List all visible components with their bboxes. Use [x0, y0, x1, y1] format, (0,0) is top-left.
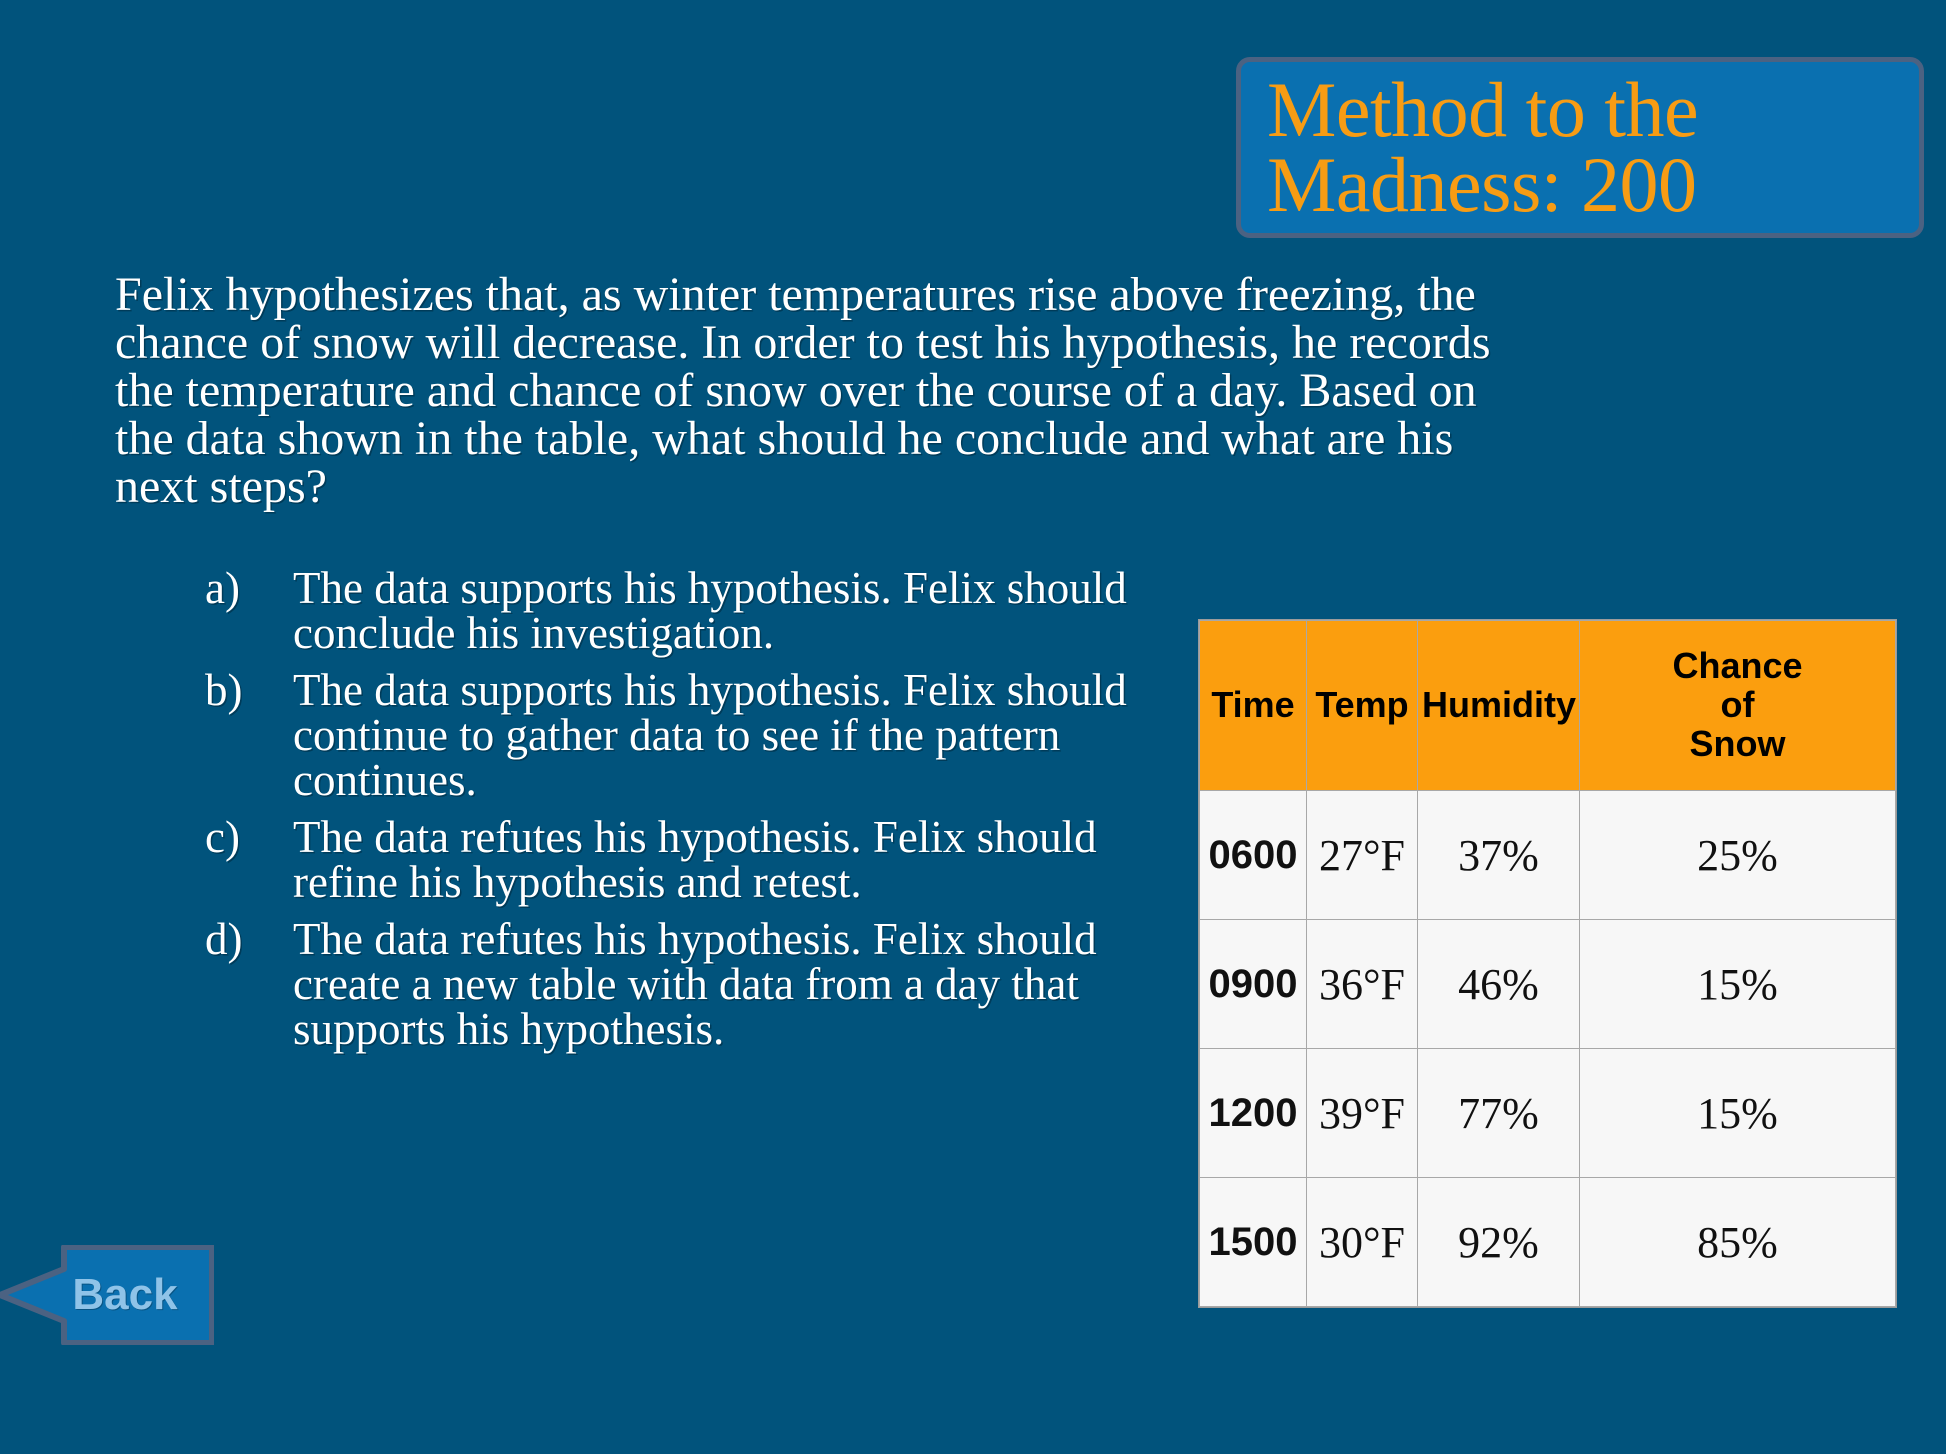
table-header-row: Time Temp Humidity Chance of Snow — [1200, 621, 1896, 791]
question-prompt-text: Felix hypothesizes that, as winter tempe… — [115, 271, 1535, 511]
slide-root: { "slide": { "background_color": "#01537… — [0, 0, 1946, 1454]
cell-chance-of-snow: 15% — [1580, 920, 1896, 1049]
question-category-badge: Method to the Madness: 200 — [1236, 57, 1924, 238]
answer-text-b: The data supports his hypothesis. Felix … — [293, 668, 1155, 803]
table-row: 0600 27°F 37% 25% — [1200, 791, 1896, 920]
cell-time: 0900 — [1200, 920, 1307, 1049]
table-row: 1200 39°F 77% 15% — [1200, 1049, 1896, 1178]
answer-option-d[interactable]: d) The data refutes his hypothesis. Feli… — [205, 917, 1155, 1052]
cell-temp: 39°F — [1307, 1049, 1418, 1178]
cell-temp: 27°F — [1307, 791, 1418, 920]
answer-option-b[interactable]: b) The data supports his hypothesis. Fel… — [205, 668, 1155, 803]
cell-time: 0600 — [1200, 791, 1307, 920]
table-body: 0600 27°F 37% 25% 0900 36°F 46% 15% 1200… — [1200, 791, 1896, 1307]
answer-options-list: a) The data supports his hypothesis. Fel… — [205, 566, 1155, 1064]
answer-marker-d: d) — [205, 917, 293, 962]
answer-text-d: The data refutes his hypothesis. Felix s… — [293, 917, 1155, 1052]
column-header-chance-of-snow: Chance of Snow — [1580, 621, 1896, 791]
cell-chance-of-snow: 85% — [1580, 1178, 1896, 1307]
answer-marker-a: a) — [205, 566, 293, 611]
answer-marker-c: c) — [205, 815, 293, 860]
table-row: 1500 30°F 92% 85% — [1200, 1178, 1896, 1307]
cell-temp: 36°F — [1307, 920, 1418, 1049]
back-button[interactable]: Back — [0, 1245, 214, 1345]
cell-temp: 30°F — [1307, 1178, 1418, 1307]
column-header-temp: Temp — [1307, 621, 1418, 791]
cell-humidity: 46% — [1418, 920, 1580, 1049]
weather-data-table: Time Temp Humidity Chance of Snow 0600 2… — [1199, 620, 1895, 1281]
table-row: 0900 36°F 46% 15% — [1200, 920, 1896, 1049]
column-header-humidity: Humidity — [1418, 621, 1580, 791]
cell-chance-of-snow: 15% — [1580, 1049, 1896, 1178]
cell-time: 1500 — [1200, 1178, 1307, 1307]
answer-option-c[interactable]: c) The data refutes his hypothesis. Feli… — [205, 815, 1155, 905]
cell-time: 1200 — [1200, 1049, 1307, 1178]
answer-marker-b: b) — [205, 668, 293, 713]
weather-table: Time Temp Humidity Chance of Snow 0600 2… — [1199, 620, 1896, 1307]
table-header: Time Temp Humidity Chance of Snow — [1200, 621, 1896, 791]
cell-humidity: 37% — [1418, 791, 1580, 920]
answer-text-a: The data supports his hypothesis. Felix … — [293, 566, 1155, 656]
question-category-title: Method to the Madness: 200 — [1267, 73, 1698, 223]
column-header-time: Time — [1200, 621, 1307, 791]
answer-option-a[interactable]: a) The data supports his hypothesis. Fel… — [205, 566, 1155, 656]
back-arrow-icon — [0, 1245, 214, 1345]
cell-humidity: 92% — [1418, 1178, 1580, 1307]
cell-humidity: 77% — [1418, 1049, 1580, 1178]
answer-text-c: The data refutes his hypothesis. Felix s… — [293, 815, 1155, 905]
cell-chance-of-snow: 25% — [1580, 791, 1896, 920]
